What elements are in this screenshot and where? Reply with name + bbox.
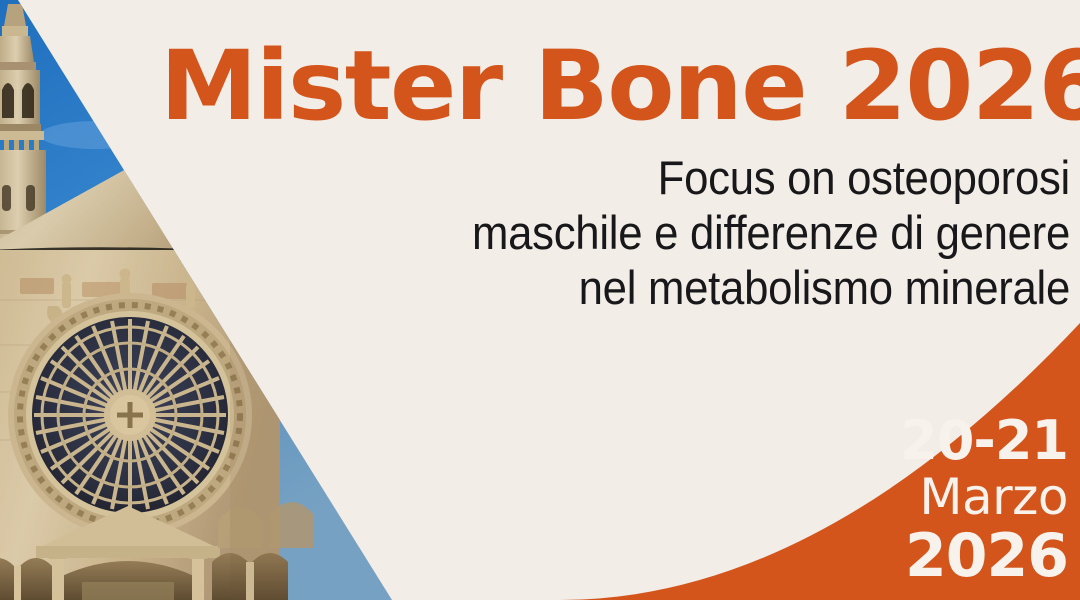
subtitle-line-2: maschile e differenze di genere [307, 205, 1070, 260]
event-banner: Mister Bone 2026 Focus on osteoporosi ma… [0, 0, 1080, 600]
apex-statue [119, 141, 137, 170]
subtitle: Focus on osteoporosi maschile e differen… [250, 150, 1070, 315]
date-days: 20-21 [808, 412, 1068, 470]
subtitle-line-1: Focus on osteoporosi [307, 150, 1070, 205]
page-title: Mister Bone 2026 [160, 36, 1080, 136]
event-date: 20-21 Marzo 2026 [808, 412, 1068, 588]
date-month: Marzo [808, 470, 1068, 524]
date-year: 2026 [808, 524, 1068, 588]
